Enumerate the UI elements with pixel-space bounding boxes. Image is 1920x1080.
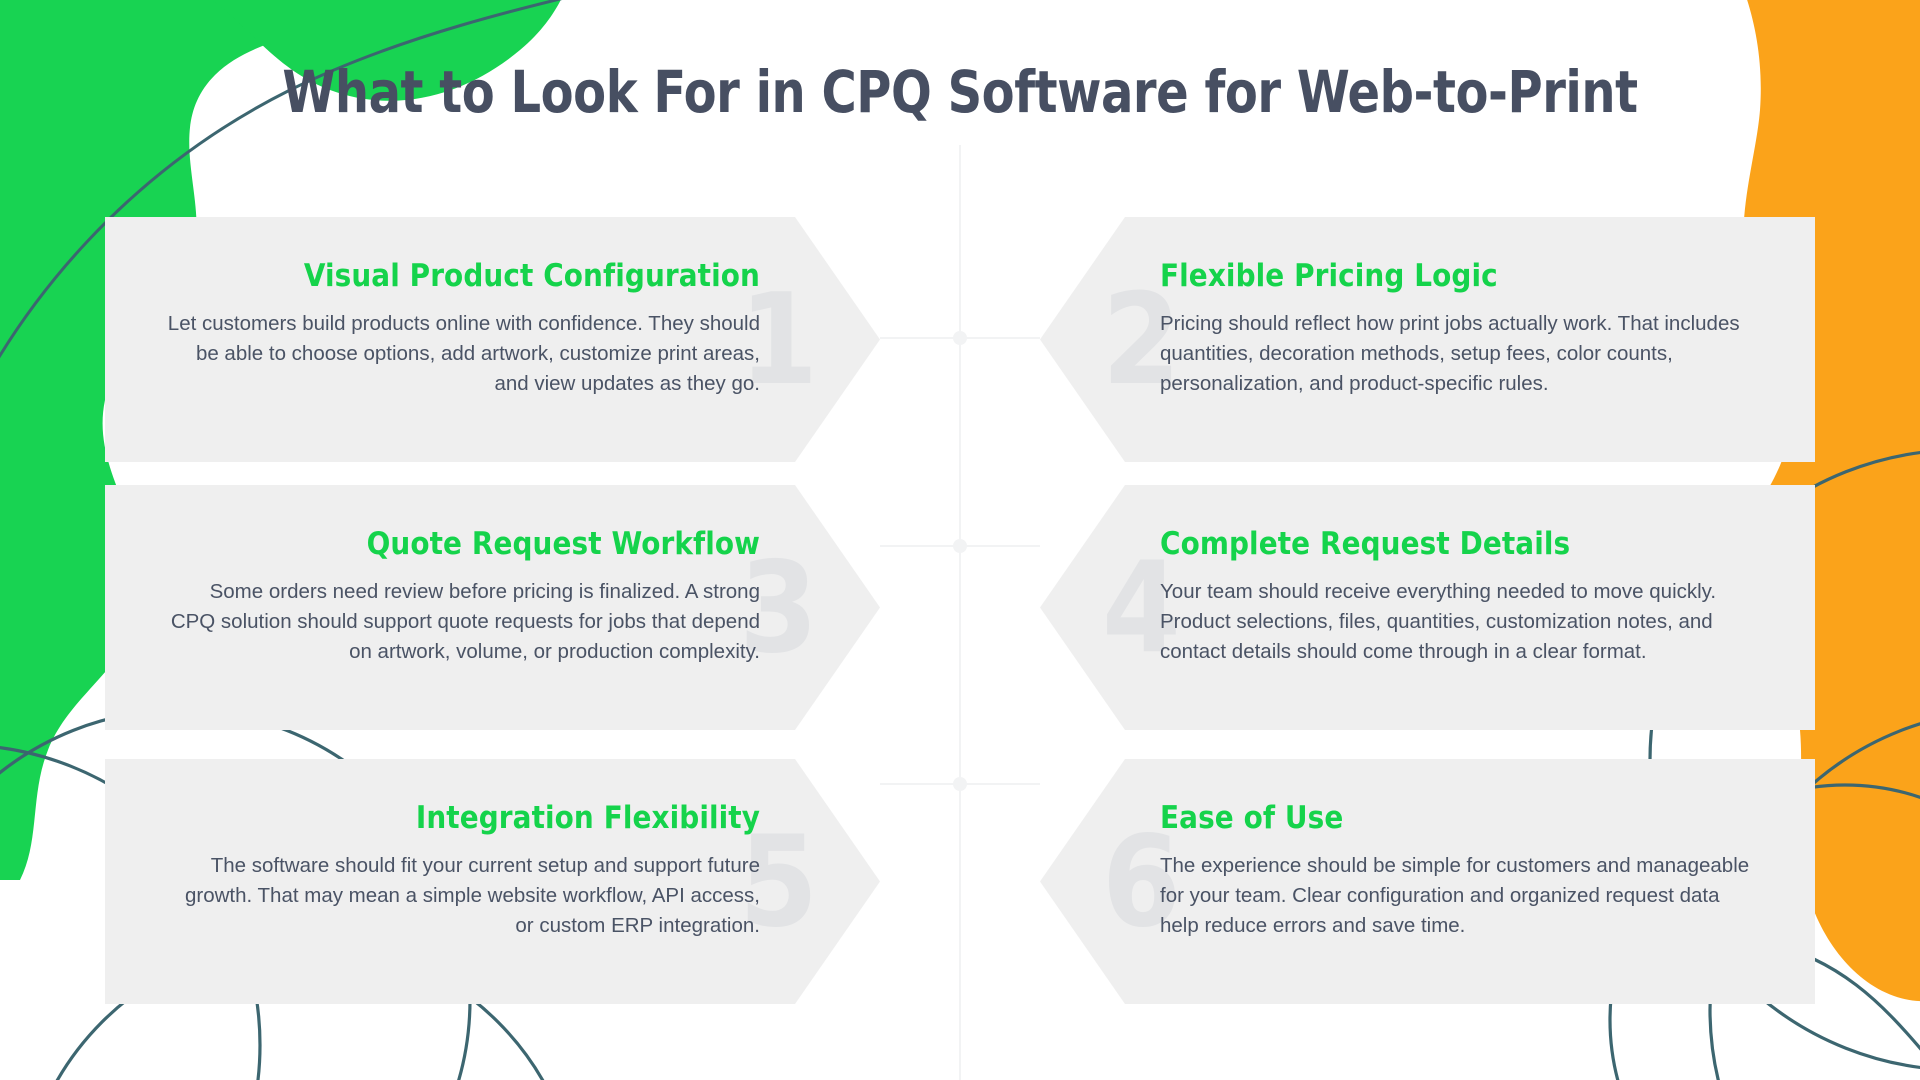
card-3-title: Quote Request Workflow (163, 527, 760, 561)
connector-rung-row-3-right (960, 783, 1040, 785)
connector-dot-row-1 (953, 331, 967, 345)
card-4-body: Your team should receive everything need… (1160, 577, 1757, 666)
connector-dot-row-2 (953, 539, 967, 553)
card-1[interactable]: 1 Visual Product Configuration Let custo… (105, 217, 880, 462)
card-1-body: Let customers build products online with… (163, 309, 760, 398)
connector-rung-row-2-right (960, 545, 1040, 547)
connector-dot-row-3 (953, 777, 967, 791)
infographic-canvas: What to Look For in CPQ Software for Web… (0, 0, 1920, 1080)
card-4[interactable]: 4 Complete Request Details Your team sho… (1040, 485, 1815, 730)
card-2[interactable]: 2 Flexible Pricing Logic Pricing should … (1040, 217, 1815, 462)
connector-rung-row-2-left (880, 545, 960, 547)
page-title: What to Look For in CPQ Software for Web… (77, 58, 1843, 126)
card-3-body: Some orders need review before pricing i… (163, 577, 760, 666)
card-3[interactable]: 3 Quote Request Workflow Some orders nee… (105, 485, 880, 730)
card-5-title: Integration Flexibility (163, 801, 760, 835)
connector-rung-row-3-left (880, 783, 960, 785)
card-1-title: Visual Product Configuration (163, 259, 760, 293)
card-6-title: Ease of Use (1160, 801, 1757, 835)
card-5-body: The software should fit your current set… (163, 851, 760, 940)
card-2-body: Pricing should reflect how print jobs ac… (1160, 309, 1757, 398)
connector-rung-row-1-left (880, 337, 960, 339)
center-spine (959, 145, 961, 1080)
connector-rung-row-1-right (960, 337, 1040, 339)
card-6-body: The experience should be simple for cust… (1160, 851, 1757, 940)
card-6[interactable]: 6 Ease of Use The experience should be s… (1040, 759, 1815, 1004)
card-2-title: Flexible Pricing Logic (1160, 259, 1757, 293)
card-4-title: Complete Request Details (1160, 527, 1757, 561)
card-5[interactable]: 5 Integration Flexibility The software s… (105, 759, 880, 1004)
